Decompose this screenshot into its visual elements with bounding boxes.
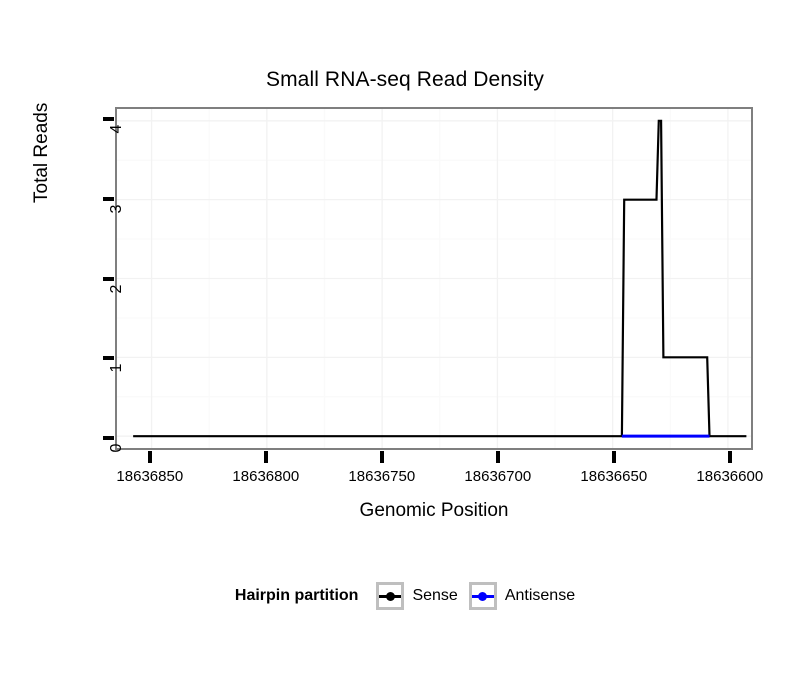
plot-panel — [115, 107, 753, 450]
x-tick-label: 18636650 — [580, 468, 647, 485]
x-tick-mark — [612, 451, 616, 463]
x-tick-mark — [380, 451, 384, 463]
series-sense — [133, 121, 746, 436]
x-tick-mark — [496, 451, 500, 463]
chart-root: Small RNA-seq Read Density 01234 1863685… — [0, 0, 810, 690]
x-tick-mark — [728, 451, 732, 463]
x-tick-label: 18636600 — [696, 468, 763, 485]
y-tick-label: 1 — [108, 358, 126, 378]
x-tick-label: 18636800 — [232, 468, 299, 485]
legend-point-icon — [478, 592, 487, 601]
legend-label-antisense: Antisense — [505, 587, 575, 605]
legend-label-sense: Sense — [412, 587, 457, 605]
series-layer — [117, 109, 751, 448]
x-axis-title: Genomic Position — [115, 500, 753, 522]
y-axis-title: Total Reads — [31, 179, 53, 203]
x-tick-mark — [148, 451, 152, 463]
legend-key-antisense — [469, 582, 497, 610]
legend-point-icon — [386, 592, 395, 601]
legend-entry-sense[interactable]: Sense — [376, 582, 457, 610]
y-tick-label: 4 — [108, 119, 126, 139]
x-tick-mark — [264, 451, 268, 463]
legend-key-sense — [376, 582, 404, 610]
legend-title: Hairpin partition — [235, 587, 359, 605]
x-tick-label: 18636850 — [116, 468, 183, 485]
y-tick-label: 0 — [108, 438, 126, 458]
legend-entry-antisense[interactable]: Antisense — [469, 582, 575, 610]
legend: Hairpin partition Sense Antisense — [0, 582, 810, 610]
x-tick-label: 18636700 — [464, 468, 531, 485]
y-tick-label: 2 — [108, 279, 126, 299]
chart-title: Small RNA-seq Read Density — [0, 68, 810, 92]
x-tick-label: 18636750 — [348, 468, 415, 485]
y-tick-label: 3 — [108, 199, 126, 219]
